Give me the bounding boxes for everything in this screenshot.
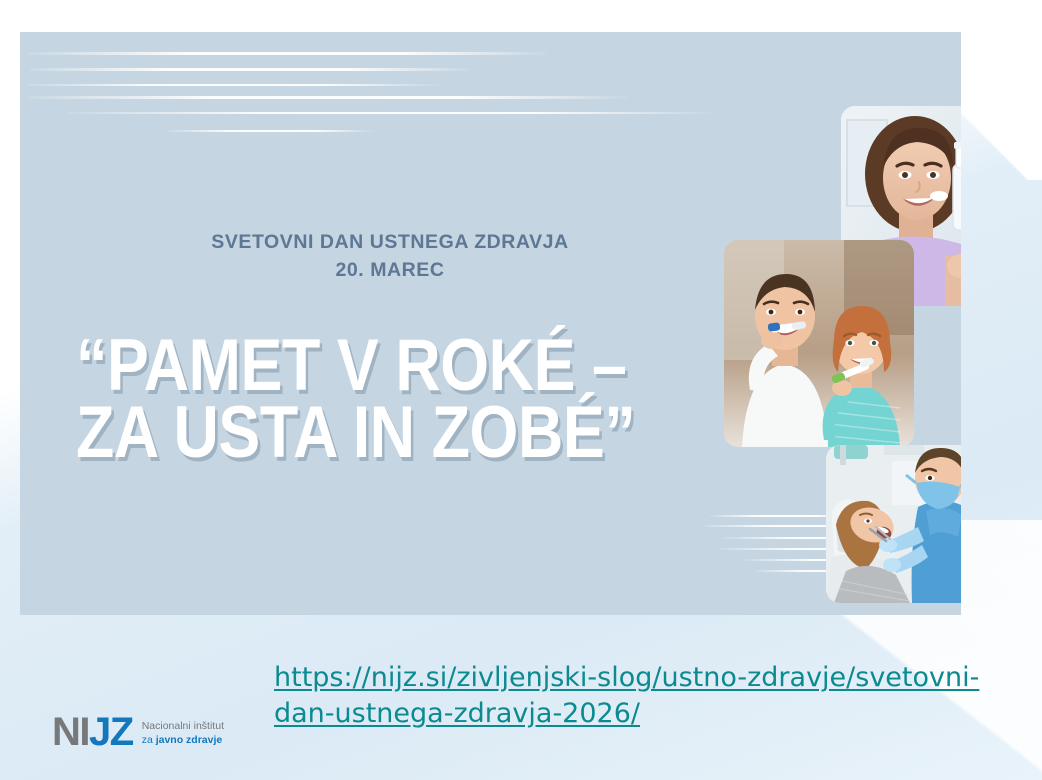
slogan-title-line-2: ZA USTA IN ZOBÉ” — [76, 399, 644, 466]
event-subtitle-line-2: 20. MAREC — [80, 256, 700, 284]
nijz-tagline-line-1: Nacionalni inštitut — [142, 720, 224, 733]
nijz-logo-ni: NI — [52, 710, 89, 754]
dentist-examining-patient-photo — [826, 445, 961, 603]
event-subtitle-line-1: SVETOVNI DAN USTNEGA ZDRAVJA — [80, 228, 700, 256]
nijz-logo-tagline: Nacionalni inštitut za javno zdravje — [142, 717, 224, 747]
nijz-tagline-line-2: za javno zdravje — [142, 734, 224, 747]
nijz-tagline-bold: javno zdravje — [156, 734, 223, 746]
event-url-link[interactable]: https://nijz.si/zivljenjski-slog/ustno-z… — [274, 660, 994, 732]
event-url-line-2[interactable]: dan-ustnega-zdravja-2026/ — [274, 696, 994, 732]
decorative-lines-bottom-left — [38, 517, 458, 587]
slide-canvas: SVETOVNI DAN USTNEGA ZDRAVJA 20. MAREC “… — [0, 0, 1042, 780]
slogan-title-line-1: “PAMET V ROKÉ – — [76, 332, 644, 399]
nijz-logo-jz: JZ — [89, 710, 133, 754]
event-url-line-1[interactable]: https://nijz.si/zivljenjski-slog/ustno-z… — [274, 660, 994, 696]
nijz-tagline-za: za — [142, 734, 156, 746]
children-brushing-teeth-photo — [724, 240, 914, 447]
hero-panel: SVETOVNI DAN USTNEGA ZDRAVJA 20. MAREC “… — [20, 32, 961, 615]
event-subtitle: SVETOVNI DAN USTNEGA ZDRAVJA 20. MAREC — [80, 228, 700, 285]
nijz-logo-wordmark: NIJZ — [52, 712, 133, 752]
slogan-title: “PAMET V ROKÉ – ZA USTA IN ZOBÉ” — [76, 332, 644, 466]
decorative-lines-top-left — [28, 50, 728, 140]
nijz-logo: NIJZ Nacionalni inštitut za javno zdravj… — [52, 712, 224, 752]
